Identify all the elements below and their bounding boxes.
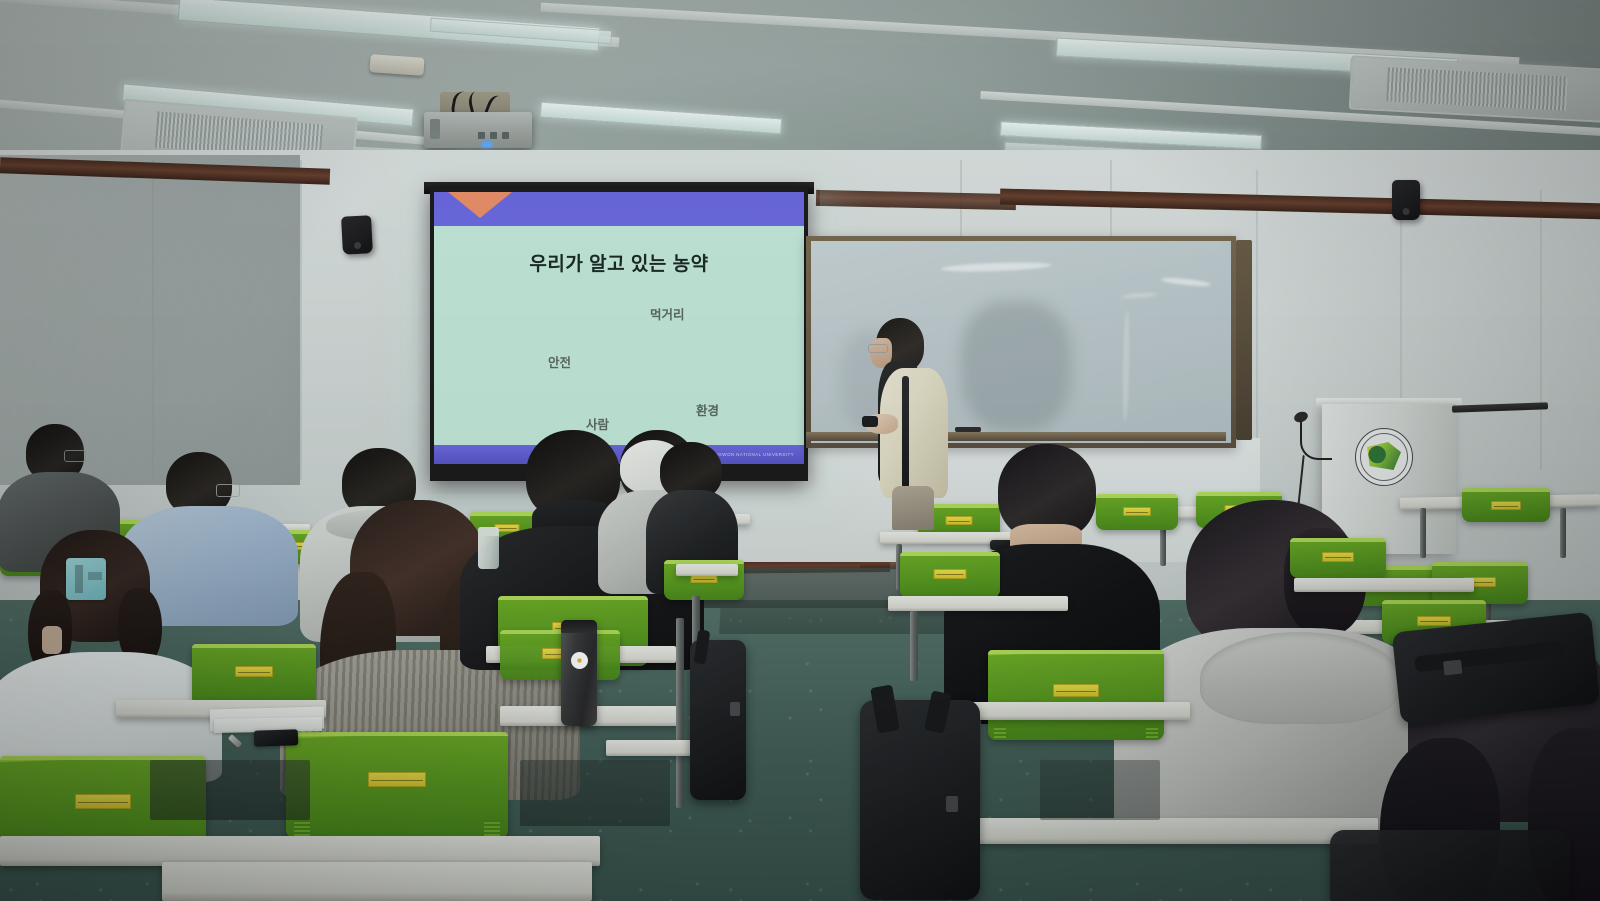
eyeglasses-icon xyxy=(216,484,240,497)
slide-title: 우리가 알고 있는 농약 xyxy=(434,249,804,276)
whiteboard-side-frame xyxy=(1236,240,1252,440)
presenter-cardigan-opening xyxy=(902,376,909,488)
wall-seam xyxy=(300,160,302,480)
water-bottle xyxy=(478,527,499,569)
slide-accent-triangle xyxy=(448,192,512,218)
smoke-detector-icon xyxy=(369,54,424,76)
wall-speaker-left xyxy=(341,215,373,255)
presentation-slide: 우리가 알고 있는 농약 먹거리 안전 환경 사람 KNU KANGWON NA… xyxy=(434,192,804,464)
presenter xyxy=(862,318,956,518)
lecture-hall-photo: 우리가 알고 있는 농약 먹거리 안전 환경 사람 KNU KANGWON NA… xyxy=(0,0,1600,901)
hair-clip xyxy=(66,558,106,600)
desk-leg xyxy=(1560,508,1566,558)
smartphone xyxy=(254,729,299,747)
desk xyxy=(950,702,1190,720)
bag-foreground xyxy=(1330,830,1570,901)
whiteboard-marker xyxy=(955,427,981,432)
wall-seam xyxy=(1540,190,1542,470)
backpack-center xyxy=(690,640,746,800)
under-desk-shadow xyxy=(150,760,310,820)
chair[interactable] xyxy=(1290,538,1386,578)
chair[interactable] xyxy=(1462,488,1550,522)
wall-seam xyxy=(1256,170,1258,470)
chair[interactable] xyxy=(900,552,1000,598)
slide-keyword: 안전 xyxy=(548,352,571,371)
chair[interactable] xyxy=(192,644,316,706)
slide-keyword: 환경 xyxy=(696,400,719,419)
desk xyxy=(676,564,738,576)
eyeglasses-icon xyxy=(64,450,86,462)
presenter-trousers xyxy=(892,486,934,530)
slide-keyword: 먹거리 xyxy=(650,304,685,323)
chair[interactable] xyxy=(988,650,1164,740)
eyeglasses-icon xyxy=(868,344,888,353)
desk xyxy=(162,862,592,901)
presentation-clicker xyxy=(862,416,878,427)
university-emblem-icon xyxy=(1355,428,1413,486)
hood xyxy=(1200,632,1400,724)
gooseneck-microphone-icon xyxy=(1300,418,1332,460)
chair[interactable] xyxy=(286,732,508,838)
wall-seam xyxy=(152,160,154,480)
desk xyxy=(888,596,1068,611)
desk xyxy=(978,818,1378,844)
backpack-aisle xyxy=(860,700,980,900)
under-desk-shadow xyxy=(1040,760,1160,820)
chair[interactable] xyxy=(500,630,620,680)
desk-leg xyxy=(676,618,684,808)
wall-speaker-right xyxy=(1392,180,1420,220)
desk xyxy=(1294,578,1474,592)
flower-sticker-icon xyxy=(571,652,588,669)
tumbler xyxy=(561,620,597,726)
under-desk-shadow xyxy=(520,760,670,826)
desk-leg xyxy=(910,611,918,681)
ear xyxy=(42,626,62,654)
ceiling-projector xyxy=(424,112,532,148)
